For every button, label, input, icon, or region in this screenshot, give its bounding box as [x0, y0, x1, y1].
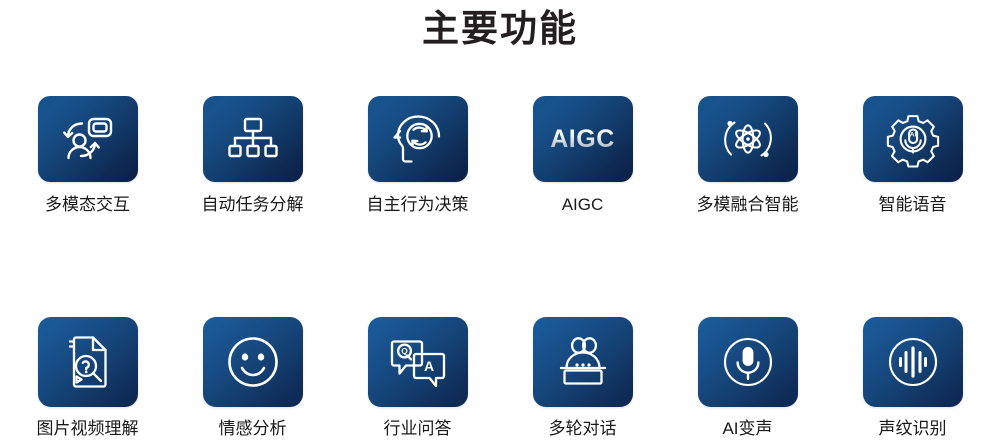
svg-text:A: A [423, 358, 433, 374]
atom-orbit-icon [721, 113, 775, 165]
feature-card-intelligent-voice[interactable]: AI 智能语音 [863, 96, 963, 216]
two-people-table-icon [555, 337, 611, 387]
microphone-circle-icon [722, 336, 774, 388]
multimodal-interaction-icon [61, 114, 115, 164]
task-decomposition-hierarchy-icon [228, 116, 278, 162]
qa-speech-bubbles-icon: Q A [390, 336, 446, 388]
feature-card-image-video-understanding[interactable]: 图片视频理解 [38, 317, 138, 440]
feature-label: 图片视频理解 [37, 418, 139, 440]
feature-card-voiceprint-recognition[interactable]: 声纹识别 [863, 317, 963, 440]
svg-text:AI: AI [909, 132, 916, 139]
feature-label: 智能语音 [879, 194, 947, 216]
page-title: 主要功能 [0, 4, 1000, 54]
feature-tile[interactable] [533, 317, 633, 407]
feature-tile[interactable] [863, 317, 963, 407]
feature-card-autonomous-decision[interactable]: 自主行为决策 [368, 96, 468, 216]
document-magnifier-question-icon [64, 335, 112, 389]
feature-label: 多模态交互 [45, 194, 130, 216]
feature-tile[interactable] [698, 317, 798, 407]
svg-text:Q: Q [401, 346, 408, 356]
feature-card-multi-turn-dialogue[interactable]: 多轮对话 [533, 317, 633, 440]
feature-card-sentiment-analysis[interactable]: 情感分析 [203, 317, 303, 440]
feature-label: 情感分析 [219, 418, 287, 440]
feature-tile[interactable]: AI [863, 96, 963, 182]
feature-label: 自动任务分解 [202, 194, 304, 216]
gear-microphone-ai-icon: AI [887, 113, 939, 165]
feature-row-1: 多模态交互 [0, 96, 1000, 216]
feature-label: 行业问答 [384, 418, 452, 440]
feature-label: 声纹识别 [879, 418, 947, 440]
feature-tile[interactable]: AIGC [533, 96, 633, 182]
feature-tile[interactable] [203, 96, 303, 182]
feature-card-multimodal-fusion[interactable]: 多模融合智能 [698, 96, 798, 216]
feature-card-multimodal-interaction[interactable]: 多模态交互 [38, 96, 138, 216]
voiceprint-waveform-circle-icon [887, 336, 939, 388]
smiley-face-icon [227, 336, 279, 388]
feature-tile[interactable]: Q A [368, 317, 468, 407]
feature-label: 自主行为决策 [367, 194, 469, 216]
feature-grid: 多模态交互 [0, 96, 1000, 440]
feature-label: 多模融合智能 [697, 194, 799, 216]
feature-card-aigc[interactable]: AIGC AIGC [533, 96, 633, 216]
aigc-wordmark-icon: AIGC [550, 125, 615, 154]
head-decision-loop-icon [392, 114, 444, 164]
feature-label: AIGC [562, 194, 604, 216]
feature-card-ai-voice-change[interactable]: AI变声 [698, 317, 798, 440]
feature-row-2: 图片视频理解 情感分析 [0, 317, 1000, 440]
feature-label: 多轮对话 [549, 418, 617, 440]
feature-tile[interactable] [203, 317, 303, 407]
feature-tile[interactable] [38, 317, 138, 407]
feature-tile[interactable] [368, 96, 468, 182]
feature-card-industry-qa[interactable]: Q A 行业问答 [368, 317, 468, 440]
feature-card-task-decomposition[interactable]: 自动任务分解 [203, 96, 303, 216]
feature-label: AI变声 [722, 418, 772, 440]
feature-overview-page: 主要功能 [0, 0, 1000, 447]
feature-tile[interactable] [38, 96, 138, 182]
feature-tile[interactable] [698, 96, 798, 182]
